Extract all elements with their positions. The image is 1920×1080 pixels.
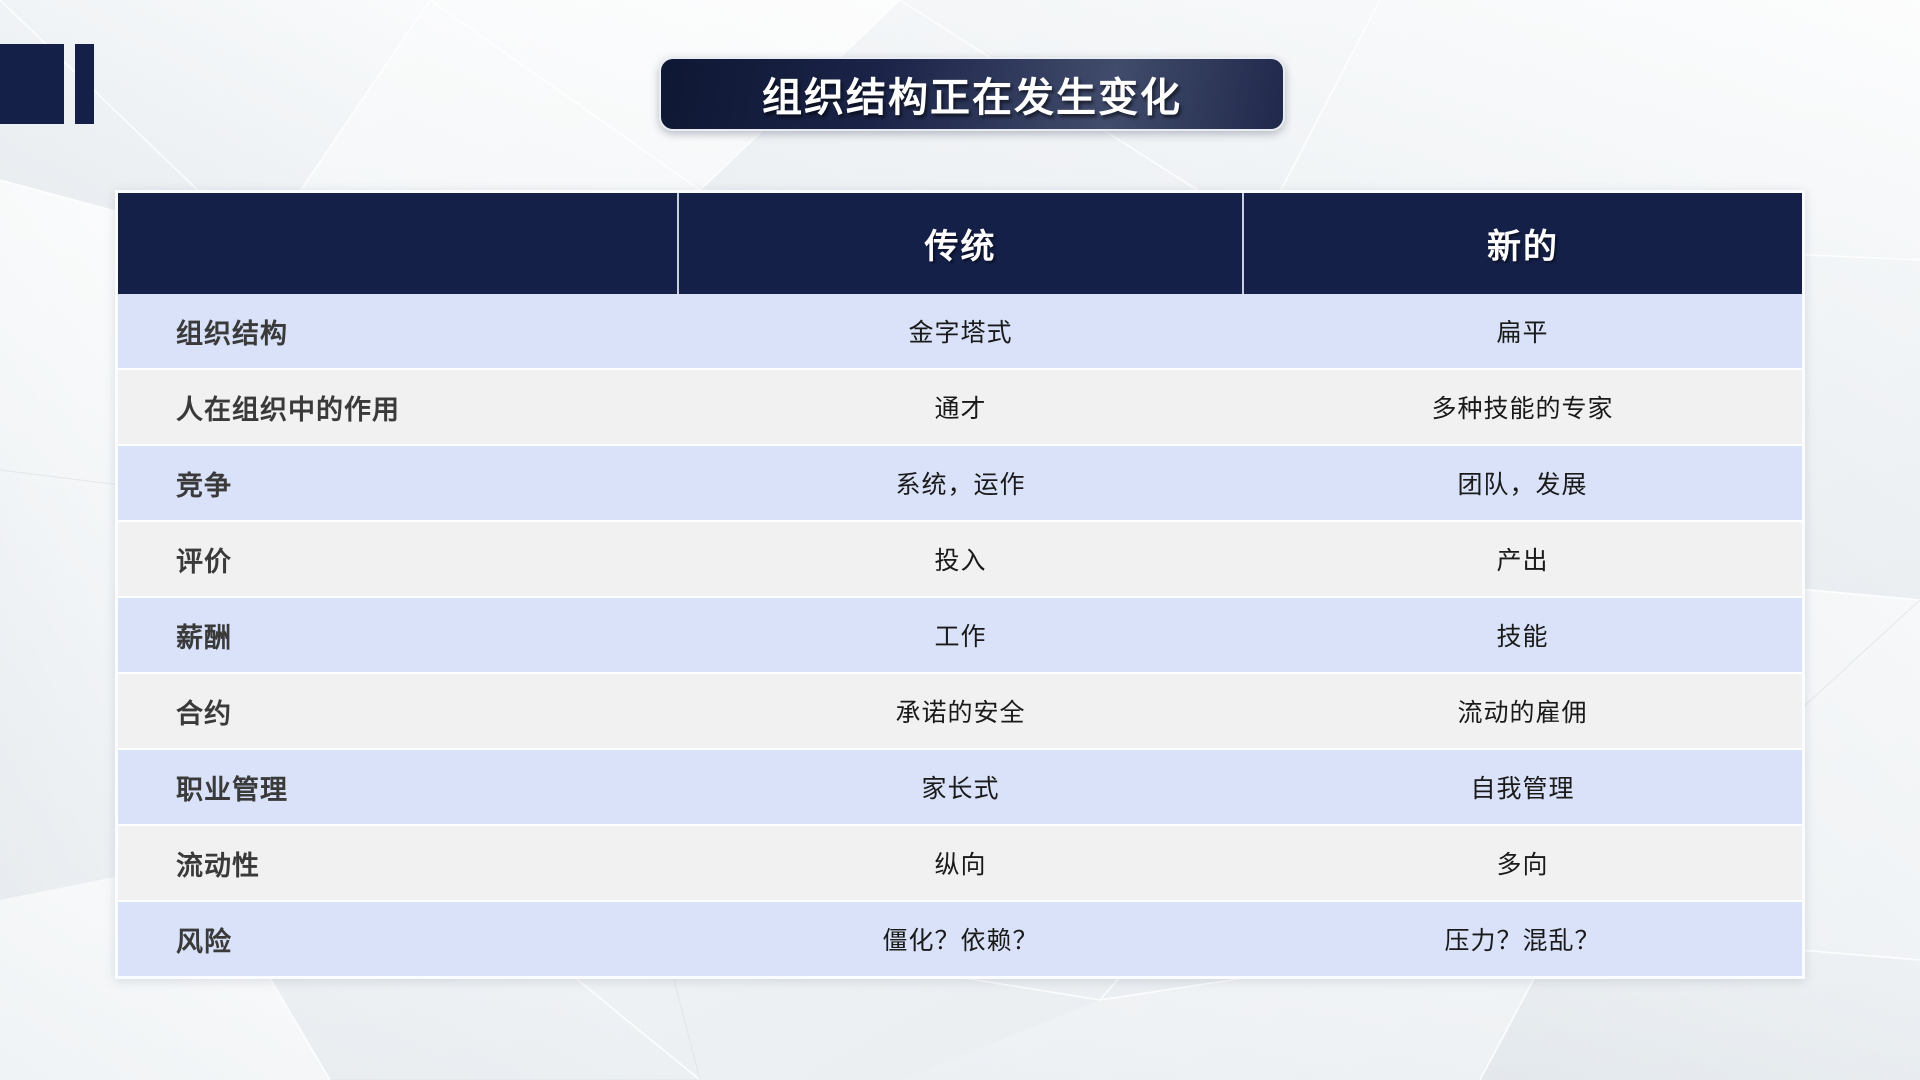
cell-traditional: 纵向 <box>678 825 1243 901</box>
row-label: 职业管理 <box>118 749 678 825</box>
accent-block-small <box>75 44 94 124</box>
row-label: 人在组织中的作用 <box>118 369 678 445</box>
table-row: 流动性 纵向 多向 <box>118 825 1802 901</box>
table-row: 组织结构 金字塔式 扁平 <box>118 294 1802 369</box>
cell-traditional: 僵化？依赖？ <box>678 901 1243 976</box>
cell-new: 流动的雇佣 <box>1243 673 1802 749</box>
cell-traditional: 金字塔式 <box>678 294 1243 369</box>
row-label: 组织结构 <box>118 294 678 369</box>
row-label: 薪酬 <box>118 597 678 673</box>
cell-new: 产出 <box>1243 521 1802 597</box>
title-banner: 组织结构正在发生变化 <box>659 57 1285 131</box>
cell-traditional: 投入 <box>678 521 1243 597</box>
row-label: 流动性 <box>118 825 678 901</box>
table-row: 人在组织中的作用 通才 多种技能的专家 <box>118 369 1802 445</box>
cell-new: 多种技能的专家 <box>1243 369 1802 445</box>
page-title: 组织结构正在发生变化 <box>762 65 1182 123</box>
comparison-table: 传统 新的 组织结构 金字塔式 扁平 人在组织中的作用 通才 多种技能的专家 竞… <box>118 193 1802 976</box>
table-row: 合约 承诺的安全 流动的雇佣 <box>118 673 1802 749</box>
cell-new: 团队，发展 <box>1243 445 1802 521</box>
cell-new: 扁平 <box>1243 294 1802 369</box>
row-label: 合约 <box>118 673 678 749</box>
column-header-traditional: 传统 <box>678 193 1243 294</box>
cell-new: 技能 <box>1243 597 1802 673</box>
cell-traditional: 工作 <box>678 597 1243 673</box>
corner-accent-decoration <box>0 44 94 124</box>
row-label: 风险 <box>118 901 678 976</box>
table-row: 风险 僵化？依赖？ 压力？混乱？ <box>118 901 1802 976</box>
table-header-row: 传统 新的 <box>118 193 1802 294</box>
table-header: 传统 新的 <box>118 193 1802 294</box>
row-label: 竞争 <box>118 445 678 521</box>
comparison-table-container: 传统 新的 组织结构 金字塔式 扁平 人在组织中的作用 通才 多种技能的专家 竞… <box>115 190 1805 979</box>
table-row: 评价 投入 产出 <box>118 521 1802 597</box>
slide-canvas: 组织结构正在发生变化 传统 新的 组织结构 金字塔式 扁平 <box>0 0 1920 1080</box>
table-row: 竞争 系统，运作 团队，发展 <box>118 445 1802 521</box>
cell-traditional: 系统，运作 <box>678 445 1243 521</box>
column-header-category <box>118 193 678 294</box>
table-row: 薪酬 工作 技能 <box>118 597 1802 673</box>
accent-block-large <box>0 44 64 124</box>
cell-new: 压力？混乱？ <box>1243 901 1802 976</box>
column-header-new: 新的 <box>1243 193 1802 294</box>
table-body: 组织结构 金字塔式 扁平 人在组织中的作用 通才 多种技能的专家 竞争 系统，运… <box>118 294 1802 976</box>
table-row: 职业管理 家长式 自我管理 <box>118 749 1802 825</box>
cell-new: 多向 <box>1243 825 1802 901</box>
cell-traditional: 通才 <box>678 369 1243 445</box>
accent-block-gap <box>64 44 75 124</box>
row-label: 评价 <box>118 521 678 597</box>
cell-traditional: 承诺的安全 <box>678 673 1243 749</box>
cell-traditional: 家长式 <box>678 749 1243 825</box>
cell-new: 自我管理 <box>1243 749 1802 825</box>
